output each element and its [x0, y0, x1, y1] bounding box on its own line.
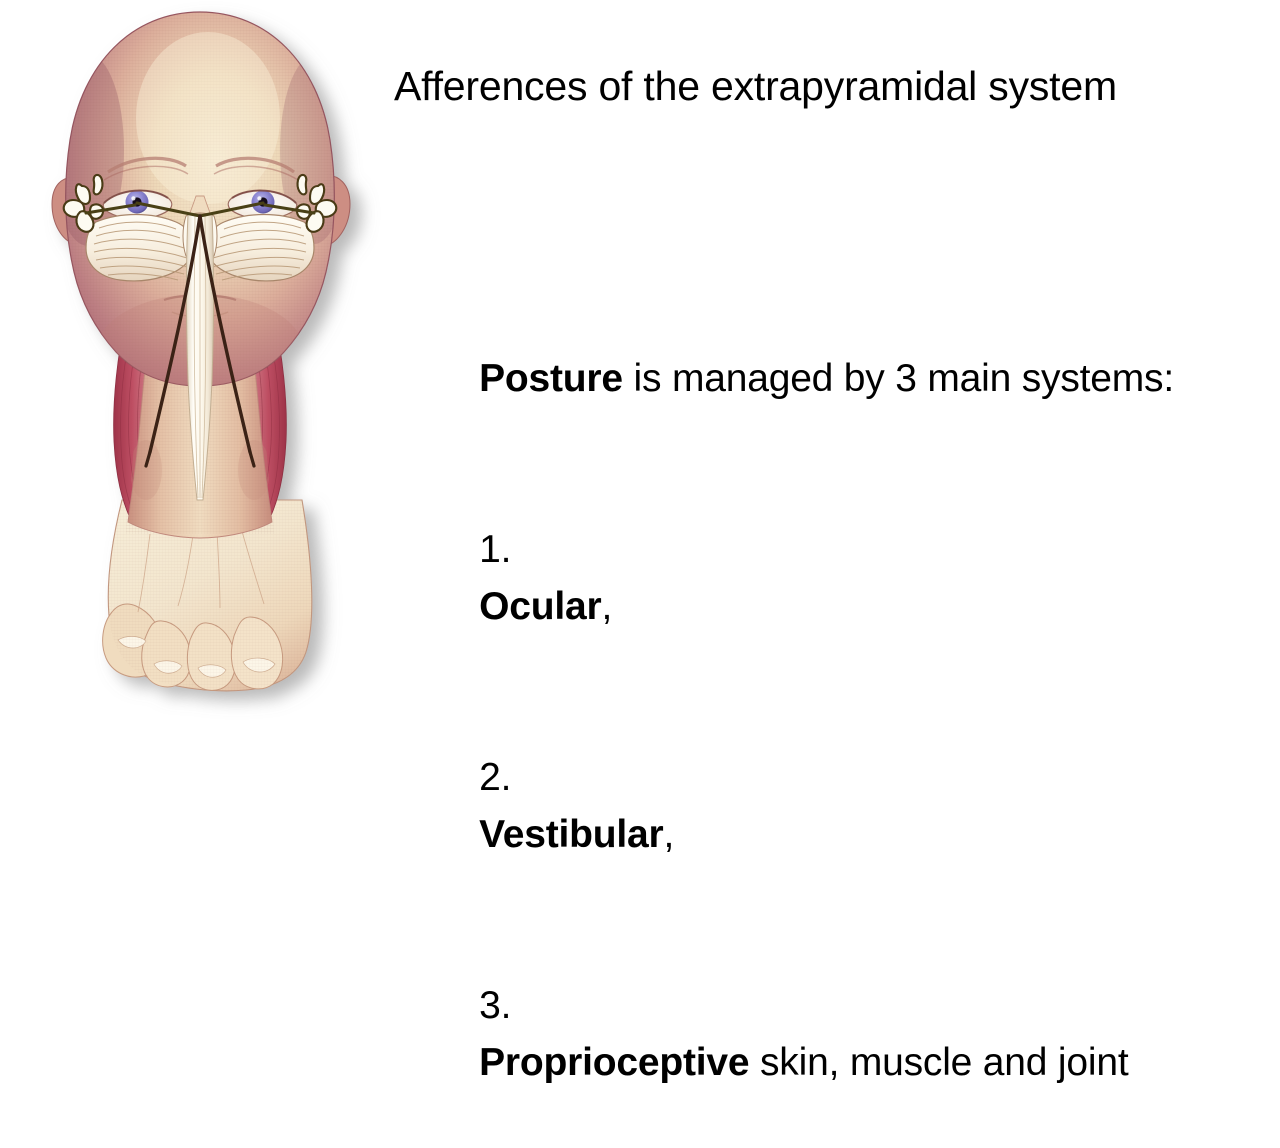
list-item-2: 2. Vestibular,: [394, 692, 1184, 920]
page-title: Afferences of the extrapyramidal system: [394, 58, 1124, 115]
list-item-2-tail: ,: [664, 813, 675, 856]
text-panel: Afferences of the extrapyramidal system …: [394, 0, 1254, 720]
slide-canvas: Afferences of the extrapyramidal system …: [0, 0, 1280, 720]
anatomy-figure-group: [52, 5, 350, 691]
intro-bold-lead: Posture: [479, 357, 623, 400]
list-item-1-term: Ocular: [479, 585, 601, 628]
list-item-2-term: Vestibular: [479, 813, 663, 856]
list-item-1-tail: ,: [601, 585, 612, 628]
list-item-3-term: Proprioceptive: [479, 1041, 749, 1084]
body-content: Posture is managed by 3 main systems: 1.…: [394, 293, 1184, 1148]
illustration-panel: [0, 0, 390, 720]
list-item-2-number: 2.: [479, 756, 511, 799]
intro-rest: is managed by 3 main systems:: [623, 357, 1174, 400]
intro-line: Posture is managed by 3 main systems:: [394, 293, 1184, 464]
list-item-3-number: 3.: [479, 984, 511, 1027]
list-item-1-number: 1.: [479, 528, 511, 571]
list-item-3: 3. Proprioceptive skin, muscle and joint: [394, 920, 1184, 1148]
list-item-1: 1. Ocular,: [394, 464, 1184, 692]
posture-systems-composite-anatomy: [0, 0, 390, 720]
list-item-3-tail: skin, muscle and joint: [749, 1041, 1128, 1084]
